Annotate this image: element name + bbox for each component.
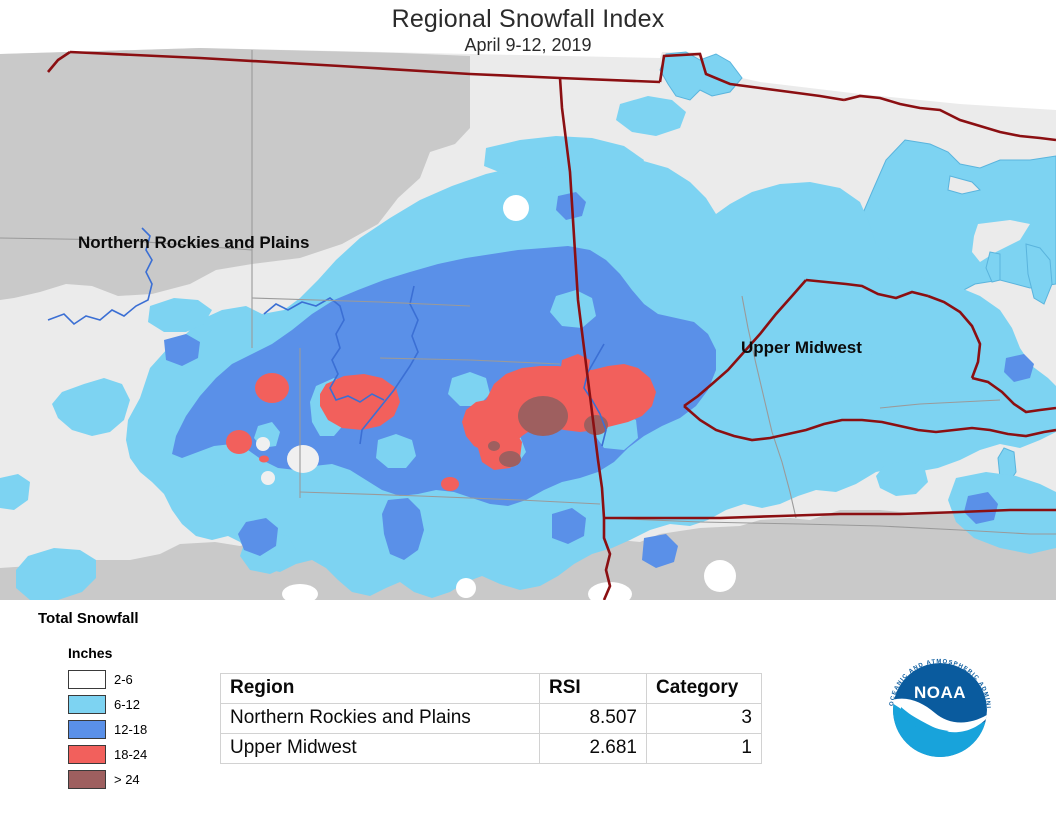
legend-swatch-over-24: [68, 770, 106, 789]
legend-label-over-24: > 24: [114, 772, 140, 787]
column-header-region: Region: [221, 674, 540, 704]
legend-title: Total Snowfall: [38, 610, 147, 627]
legend: Total Snowfall Inches 2-6 6-12 12-18 18-…: [38, 610, 147, 792]
legend-units-label: Inches: [68, 645, 147, 661]
legend-swatch-18-24: [68, 745, 106, 764]
table-row: Northern Rockies and Plains 8.507 3: [221, 704, 762, 734]
cell-category-northern-rockies-and-plains: 3: [647, 704, 762, 734]
legend-label-18-24: 18-24: [114, 747, 147, 762]
column-header-rsi: RSI: [540, 674, 647, 704]
cell-region-northern-rockies-and-plains: Northern Rockies and Plains: [221, 704, 540, 734]
snowfall-map[interactable]: Northern Rockies and Plains Upper Midwes…: [0, 48, 1056, 600]
column-header-category: Category: [647, 674, 762, 704]
legend-label-6-12: 6-12: [114, 697, 140, 712]
legend-item-12-18: 12-18: [68, 717, 147, 742]
legend-label-12-18: 12-18: [114, 722, 147, 737]
legend-swatch-2-6: [68, 670, 106, 689]
snowfall-map-page: Regional Snowfall Index April 9-12, 2019: [0, 0, 1056, 816]
noaa-logo: NATIONAL OCEANIC AND ATMOSPHERIC ADMINIS…: [875, 645, 1005, 775]
legend-swatch-6-12: [68, 695, 106, 714]
legend-label-2-6: 2-6: [114, 672, 133, 687]
legend-item-over-24: > 24: [68, 767, 147, 792]
page-title: Regional Snowfall Index: [0, 4, 1056, 34]
noaa-wordmark: NOAA: [914, 683, 966, 702]
legend-item-18-24: 18-24: [68, 742, 147, 767]
table-header-row: Region RSI Category: [221, 674, 762, 704]
cell-region-upper-midwest: Upper Midwest: [221, 734, 540, 764]
legend-swatch-12-18: [68, 720, 106, 739]
cell-category-upper-midwest: 1: [647, 734, 762, 764]
legend-item-2-6: 2-6: [68, 667, 147, 692]
rsi-table: Region RSI Category Northern Rockies and…: [220, 673, 762, 764]
cell-rsi-northern-rockies-and-plains: 8.507: [540, 704, 647, 734]
table-row: Upper Midwest 2.681 1: [221, 734, 762, 764]
cell-rsi-upper-midwest: 2.681: [540, 734, 647, 764]
map-canvas: [0, 48, 1056, 600]
legend-item-6-12: 6-12: [68, 692, 147, 717]
